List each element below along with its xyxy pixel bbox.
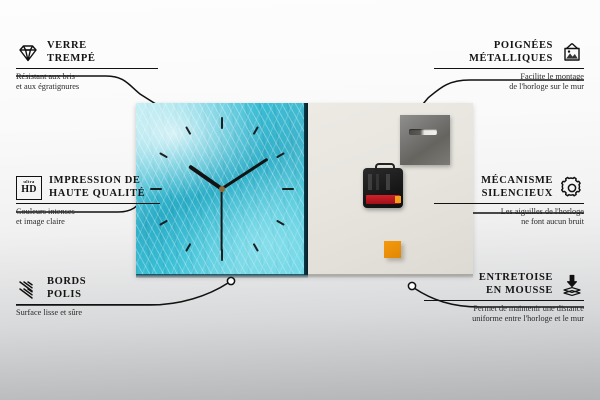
feature-header: ultra HD IMPRESSION DE HAUTE QUALITÉ [16, 175, 168, 200]
gear-icon [560, 176, 584, 200]
quartz-movement-box [363, 168, 403, 208]
clock-minute-hand [221, 158, 269, 191]
feature-subtitle-line2: uniforme entre l'horloge et le mur [424, 314, 584, 324]
feature-title: ENTRETOISE EN MOUSSE [479, 272, 553, 297]
movement-hook [375, 163, 395, 172]
feature-divider [16, 68, 158, 69]
tick-7 [185, 243, 191, 252]
tick-4 [276, 220, 285, 226]
feature-poignees-metalliques: POIGNÉES MÉTALLIQUES Facilite le montage… [434, 40, 584, 92]
infographic-canvas: VERRE TREMPÉ Résistant aux bris et aux é… [0, 0, 600, 400]
ultra-hd-icon: ultra HD [16, 176, 42, 200]
feature-title: IMPRESSION DE HAUTE QUALITÉ [49, 175, 145, 200]
feature-header: ENTRETOISE EN MOUSSE [424, 272, 584, 297]
battery-terminal [395, 196, 401, 203]
feature-divider [424, 300, 584, 301]
feature-header: BORDS POLIS [16, 276, 166, 301]
feature-subtitle-line1: Les aiguilles de l'horloge [434, 207, 584, 217]
feature-impression-haute-qualite: ultra HD IMPRESSION DE HAUTE QUALITÉ Cou… [16, 175, 168, 227]
feature-mecanisme-silencieux: MÉCANISME SILENCIEUX Les aiguilles de l'… [434, 175, 584, 227]
picture-hanger-icon [560, 41, 584, 65]
feature-header: POIGNÉES MÉTALLIQUES [434, 40, 584, 65]
feature-divider [434, 203, 584, 204]
feature-subtitle-line2: et image claire [16, 217, 168, 227]
feature-title: POIGNÉES MÉTALLIQUES [469, 40, 553, 65]
feature-header: MÉCANISME SILENCIEUX [434, 175, 584, 200]
clock-center-cap [219, 186, 225, 192]
feature-verre-trempe: VERRE TREMPÉ Résistant aux bris et aux é… [16, 40, 166, 92]
feature-entretoise-en-mousse: ENTRETOISE EN MOUSSE Permet de maintenir… [424, 272, 584, 324]
tick-1 [253, 126, 259, 135]
diamond-icon [16, 41, 40, 65]
connector-dot-bords-polis [227, 277, 234, 284]
feature-subtitle-line2: ne font aucun bruit [434, 217, 584, 227]
ultra-hd-icon-main-label: HD [21, 185, 36, 195]
metal-hanger-plate [400, 115, 450, 165]
feature-bords-polis: BORDS POLIS Surface lisse et sûre [16, 276, 166, 318]
feature-divider [434, 68, 584, 69]
feature-subtitle-line1: Permet de maintenir une distance [424, 304, 584, 314]
tick-5 [253, 243, 259, 252]
feature-subtitle-line2: de l'horloge sur le mur [434, 82, 584, 92]
tick-2 [276, 152, 285, 158]
feature-subtitle-line1: Surface lisse et sûre [16, 308, 166, 318]
feature-subtitle-line1: Résistant aux bris [16, 72, 166, 82]
feature-subtitle-line1: Facilite le montage [434, 72, 584, 82]
clock-hour-hand [188, 164, 223, 190]
tick-10 [159, 152, 168, 158]
polished-edges-icon [16, 277, 40, 301]
tick-3 [282, 188, 294, 190]
feature-divider [16, 304, 158, 305]
clock-second-hand [221, 189, 223, 251]
tick-12 [221, 117, 223, 129]
feature-title: BORDS POLIS [47, 276, 86, 301]
hanger-keyhole-slot [409, 129, 437, 135]
movement-surface-detail [368, 174, 398, 190]
connector-dot-entretoise [408, 282, 415, 289]
feature-subtitle-line1: Couleurs intenses [16, 207, 168, 217]
feature-header: VERRE TREMPÉ [16, 40, 166, 65]
feature-title: MÉCANISME SILENCIEUX [481, 175, 553, 200]
foam-spacer-icon [560, 273, 584, 297]
feature-title: VERRE TREMPÉ [47, 40, 96, 65]
foam-spacer-block [384, 241, 401, 258]
feature-divider [16, 203, 160, 204]
feature-subtitle-line2: et aux égratignures [16, 82, 166, 92]
tick-11 [185, 126, 191, 135]
